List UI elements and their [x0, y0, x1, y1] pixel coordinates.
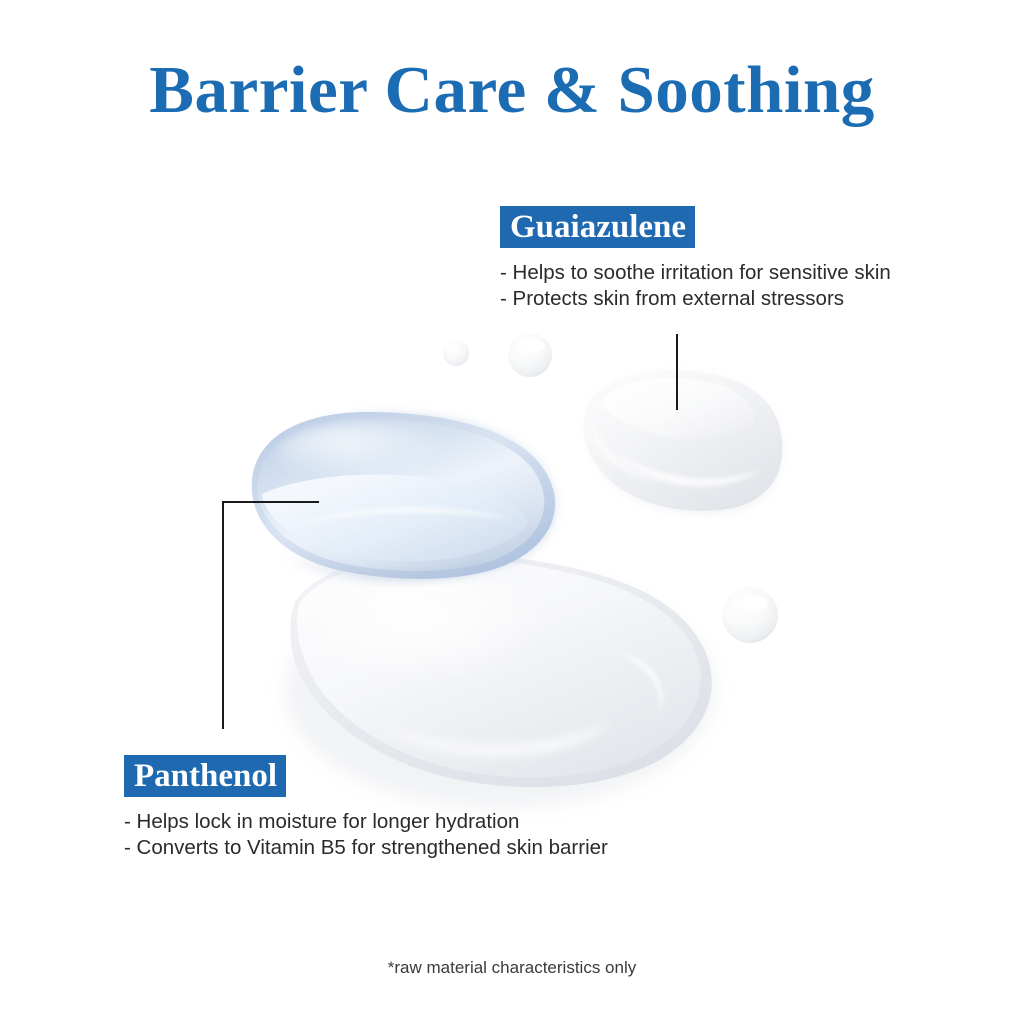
bullet-item: - Protects skin from external stressors: [500, 286, 891, 312]
droplet-small: [443, 340, 469, 366]
page-title: Barrier Care & Soothing: [0, 52, 1024, 129]
leader-line-guaiazulene: [676, 334, 678, 410]
product-texture-artwork: [0, 0, 1024, 1024]
blue-cream-dollop: [252, 412, 555, 580]
droplet-medium: [508, 333, 552, 377]
ingredient-name-panthenol: Panthenol: [124, 755, 286, 797]
droplet-right: [722, 587, 778, 643]
infographic-page: Barrier Care & Soothing: [0, 0, 1024, 1024]
bullet-item: - Helps lock in moisture for longer hydr…: [124, 809, 608, 835]
ingredient-name-guaiazulene: Guaiazulene: [500, 206, 695, 248]
callout-guaiazulene: Guaiazulene - Helps to soothe irritation…: [500, 206, 891, 312]
clear-gel-blob: [584, 370, 783, 512]
bullet-item: - Helps to soothe irritation for sensiti…: [500, 260, 891, 286]
callout-panthenol: Panthenol - Helps lock in moisture for l…: [124, 755, 608, 861]
bullet-item: - Converts to Vitamin B5 for strengthene…: [124, 835, 608, 861]
leader-line-panthenol-horizontal: [222, 501, 319, 503]
leader-line-panthenol-vertical: [222, 501, 224, 729]
footnote: *raw material characteristics only: [0, 958, 1024, 978]
ingredient-bullets-panthenol: - Helps lock in moisture for longer hydr…: [124, 809, 608, 861]
ingredient-bullets-guaiazulene: - Helps to soothe irritation for sensiti…: [500, 260, 891, 312]
